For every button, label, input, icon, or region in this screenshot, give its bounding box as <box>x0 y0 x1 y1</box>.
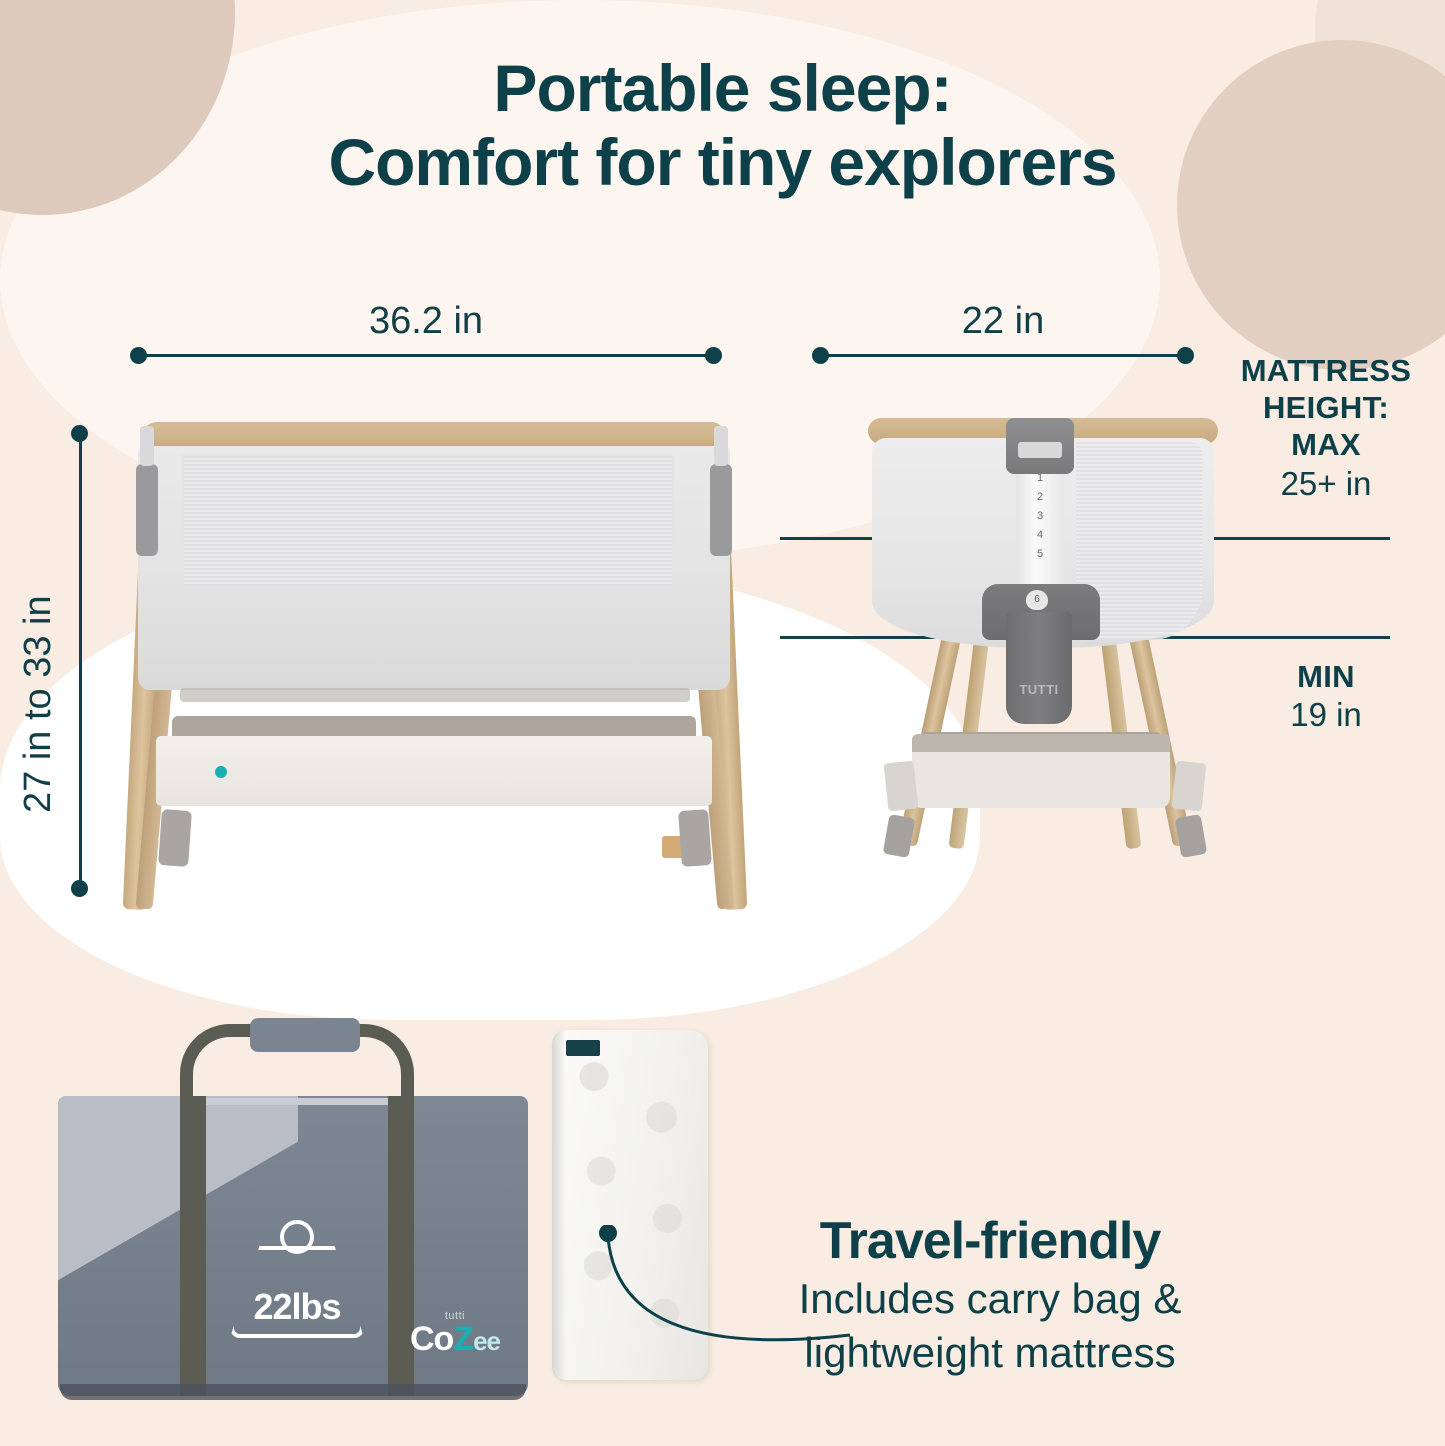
dimension-endpoint-end <box>705 347 722 364</box>
weight-icon: 22lbs <box>230 1220 364 1338</box>
height-position-4: 4 <box>1016 529 1064 541</box>
dimension-endpoint-top <box>71 425 88 442</box>
dimension-endpoint-end <box>1177 347 1194 364</box>
crib-strap-right <box>714 426 728 466</box>
weight-value: 22lbs <box>230 1286 364 1328</box>
dimension-endpoint-start <box>812 347 829 364</box>
carry-bag-zipper <box>198 1098 398 1105</box>
brand-logo-ee: ee <box>473 1326 500 1356</box>
crib-bassinet-fabric <box>138 446 730 690</box>
dimension-endpoint-start <box>130 347 147 364</box>
crib-side-foot-left <box>883 814 916 858</box>
carry-bag-strap-left <box>180 1096 206 1396</box>
crib-foot-left <box>158 809 192 867</box>
mattress-height-max-value: 25+ in <box>1228 464 1424 504</box>
mattress-height-title-line-1: MATTRESS <box>1228 352 1424 389</box>
crib-side-center-post <box>1006 612 1072 724</box>
mattress-height-min-block: MIN 19 in <box>1228 658 1424 735</box>
height-position-6: 6 <box>1026 590 1048 610</box>
crib-storage-tray-front <box>156 736 712 806</box>
dimension-bar-width-side <box>812 345 1194 365</box>
infographic-canvas: Portable sleep: Comfort for tiny explore… <box>0 0 1445 1446</box>
dimension-bar-width-front <box>130 345 722 365</box>
crib-side-storage-basket <box>912 734 1170 808</box>
crib-side-foot-right <box>1175 814 1208 858</box>
mattress-height-min-label: MIN <box>1228 658 1424 695</box>
dimension-label-width-side: 22 in <box>812 300 1194 343</box>
crib-brand-logo: TUTTI <box>1006 682 1072 697</box>
travel-friendly-callout: Travel-friendly Includes carry bag & lig… <box>630 1212 1350 1377</box>
brand-logo-co: Co <box>410 1320 453 1358</box>
crib-mesh-panel <box>182 454 674 588</box>
dimension-line <box>820 354 1186 357</box>
product-image-crib-side-view: 1 2 3 4 5 6 TUTTI <box>850 412 1240 882</box>
crib-side-flap-left <box>884 761 919 812</box>
headline-line-2: Comfort for tiny explorers <box>0 126 1445 200</box>
dimension-label-height: 27 in to 33 in <box>17 595 60 813</box>
mattress-height-title-line-2: HEIGHT: <box>1228 389 1424 426</box>
mattress-height-min-value: 19 in <box>1228 695 1424 735</box>
dimension-line <box>79 433 82 889</box>
height-position-2: 2 <box>1016 491 1064 503</box>
dimension-line <box>138 354 714 357</box>
mattress-height-max-label: MAX <box>1228 426 1424 463</box>
travel-friendly-desc-line-1: Includes carry bag & <box>630 1274 1350 1324</box>
crib-strap-left <box>140 426 154 466</box>
crib-side-clamp-release <box>1018 442 1062 458</box>
carry-bag-handle-grip <box>250 1018 360 1052</box>
headline-line-1: Portable sleep: <box>493 51 951 125</box>
crib-side-flap-right <box>1172 761 1207 812</box>
height-position-5: 5 <box>1016 548 1064 560</box>
travel-friendly-desc-line-2: lightweight mattress <box>630 1328 1350 1378</box>
product-image-carry-bag: 22lbs tutti CoZee <box>58 1040 528 1400</box>
dimension-endpoint-bottom <box>71 880 88 897</box>
product-image-crib-front-view <box>120 410 750 910</box>
brand-logo-z: Z <box>453 1320 473 1358</box>
crib-hinge-right <box>710 464 732 556</box>
mattress-height-max-block: MATTRESS HEIGHT: MAX 25+ in <box>1228 352 1424 503</box>
crib-foot-right <box>678 809 712 867</box>
mattress-brand-tag <box>566 1040 600 1056</box>
carry-bag-base <box>60 1384 526 1400</box>
crib-under-frame-bar <box>180 688 690 702</box>
carry-bag-brand-logo: tutti CoZee <box>410 1311 500 1356</box>
travel-friendly-title: Travel-friendly <box>630 1212 1350 1270</box>
crib-teal-accent-dot <box>215 766 227 778</box>
crib-hinge-left <box>136 464 158 556</box>
height-position-3: 3 <box>1016 510 1064 522</box>
dimension-label-width-front: 36.2 in <box>130 300 722 343</box>
page-title: Portable sleep: Comfort for tiny explore… <box>0 52 1445 200</box>
brand-logo-main: CoZee <box>410 1322 500 1356</box>
dimension-bar-height <box>70 425 90 897</box>
